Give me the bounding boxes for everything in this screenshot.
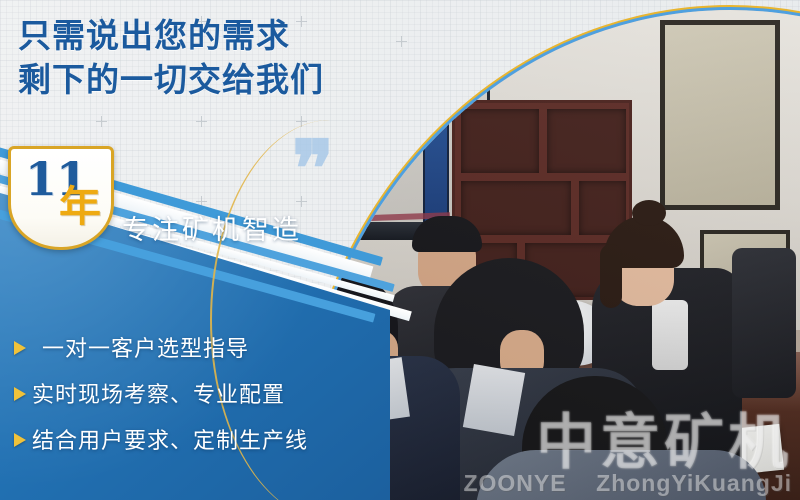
- list-item-label: 结合用户要求、定制生产线: [32, 423, 308, 455]
- headline-line-1: 只需说出您的需求: [18, 17, 290, 54]
- arrow-bullet-icon: [14, 387, 26, 401]
- quote-mark-icon: ❞: [292, 140, 334, 200]
- headline-line-2: 剩下的一切交给我们: [18, 58, 388, 102]
- list-item: 实时现场考察、专业配置: [10, 374, 310, 420]
- headline: 只需说出您的需求 剩下的一切交给我们: [18, 14, 388, 102]
- arrow-bullet-icon: [14, 341, 26, 355]
- list-item: 结合用户要求、定制生产线: [10, 420, 310, 466]
- years-badge: 11 年: [8, 146, 114, 250]
- list-item-label: 实时现场考察、专业配置: [32, 377, 285, 409]
- promo-banner: 只需说出您的需求 剩下的一切交给我们 ❞ 11 年 专注矿机智造 一对一客户选型…: [0, 0, 800, 500]
- list-item: 一对一客户选型指导: [10, 328, 310, 374]
- arrow-bullet-icon: [14, 433, 26, 447]
- feature-list: 一对一客户选型指导 实时现场考察、专业配置 结合用户要求、定制生产线: [10, 328, 310, 466]
- list-item-label: 一对一客户选型指导: [42, 331, 249, 363]
- slogan: 专注矿机智造: [122, 208, 302, 247]
- years-badge-unit: 年: [59, 185, 101, 229]
